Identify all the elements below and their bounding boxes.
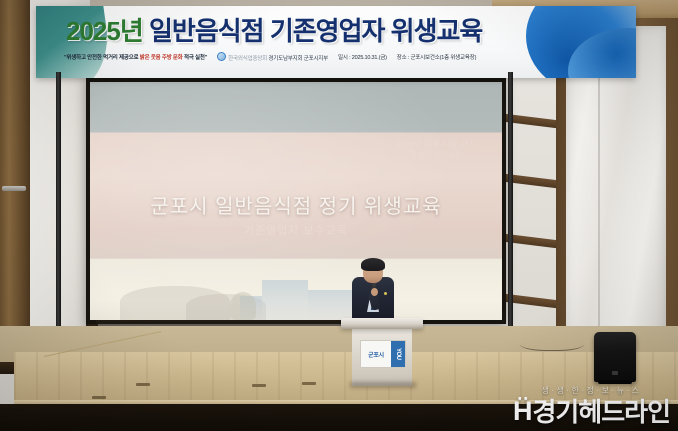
banner-place: 장소 : 군포시보건소(1층 위생교육장) [397, 53, 477, 61]
loudspeaker-foot [598, 380, 632, 384]
watermark-logo-icon: Ḧ [513, 398, 530, 425]
banner-title-main: 일반음식점 기존영업자 위생교육 [149, 16, 482, 46]
slide-background-photo [90, 256, 502, 320]
banner-org-faint: 한국외식업중앙회 [228, 56, 267, 62]
stage-floor-slot-3 [252, 384, 266, 387]
banner-place-label: 장소 : [397, 55, 409, 61]
speaker-person-lapel-badge [384, 292, 387, 295]
banner-org-branch: 경기도남부지회 군포시지부 [268, 56, 328, 62]
banner-slogan: "위생하고 안전한 먹거리 제공으로 밝은 웃음 주방 문화 적극 실천" [64, 53, 207, 61]
podium-plate-text: 군포시 [361, 350, 391, 359]
slide-corner-line-1: 2025년 10월 31일 14시 [397, 140, 476, 151]
banner-date-value: 2025.10.31.(금) [352, 55, 387, 61]
watermark-logo-row: Ḧ 경기헤드라인 [513, 398, 670, 425]
speaker-person-hair [361, 258, 385, 271]
banner-place-value: 군포시보건소(1층 위생교육장) [410, 55, 476, 61]
stage-floor-slot-2 [136, 383, 150, 386]
slide-tree-1 [230, 292, 256, 320]
slide-title: 군포시 일반음식점 정기 위생교육 [90, 190, 502, 219]
podium-top [341, 318, 423, 329]
left-door-handle[interactable] [2, 186, 26, 191]
banner-subline: "위생하고 안전한 먹거리 제공으로 밝은 웃음 주방 문화 적극 실천" 한국… [64, 52, 626, 62]
watermark: 생·생·한·정·보·뉴·스 Ḧ 경기헤드라인 [513, 387, 670, 425]
banner-slogan-highlight: 밝은 웃음 주방 문화 [140, 55, 183, 61]
banner-pole-right [508, 72, 513, 332]
banner-date: 일시 : 2025.10.31.(금) [338, 53, 387, 61]
loudspeaker-badge [612, 371, 618, 375]
banner-date-label: 일시 : [338, 55, 350, 61]
podium-logo-plate: 군포시 YOU [360, 340, 406, 368]
banner-slogan-suffix: 적극 실천" [184, 55, 207, 61]
association-emblem-icon [217, 52, 226, 61]
photo-scene: 2025년 10월 31일 14시 군포시 보건소장 군포시 일반음식점 정기 … [0, 0, 678, 431]
podium-plate-side-text: YOU [391, 341, 405, 367]
slide-corner-text: 2025년 10월 31일 14시 군포시 보건소장 [397, 140, 476, 161]
podium-shadow [350, 382, 416, 388]
speaker-person-hand [371, 288, 378, 296]
slide-subtitle: 기존영업자 보수교육 [90, 222, 502, 238]
stage-floor-slot-1 [92, 396, 106, 399]
slide-building-1 [262, 280, 308, 320]
watermark-brand-name: 경기헤드라인 [532, 399, 670, 425]
banner-title: 2025년 일반음식점 기존영업자 위생교육 [66, 11, 482, 48]
banner-organization: 한국외식업중앙회 경기도남부지회 군포시지부 [217, 52, 328, 62]
banner-title-year: 2025년 [66, 16, 143, 46]
projection-screen-surface: 2025년 10월 31일 14시 군포시 보건소장 군포시 일반음식점 정기 … [90, 82, 502, 320]
stage-floor-slot-4 [302, 382, 316, 385]
projection-screen-frame: 2025년 10월 31일 14시 군포시 보건소장 군포시 일반음식점 정기 … [86, 78, 506, 324]
av-cable [520, 334, 584, 351]
slide-corner-line-2: 군포시 보건소장 [397, 151, 476, 162]
banner-slogan-prefix: "위생하고 안전한 먹거리 제공으로 [64, 55, 138, 61]
event-banner: 2025년 일반음식점 기존영업자 위생교육 "위생하고 안전한 먹거리 제공으… [36, 6, 636, 78]
watermark-tagline: 생·생·한·정·보·뉴·스 [513, 387, 670, 395]
